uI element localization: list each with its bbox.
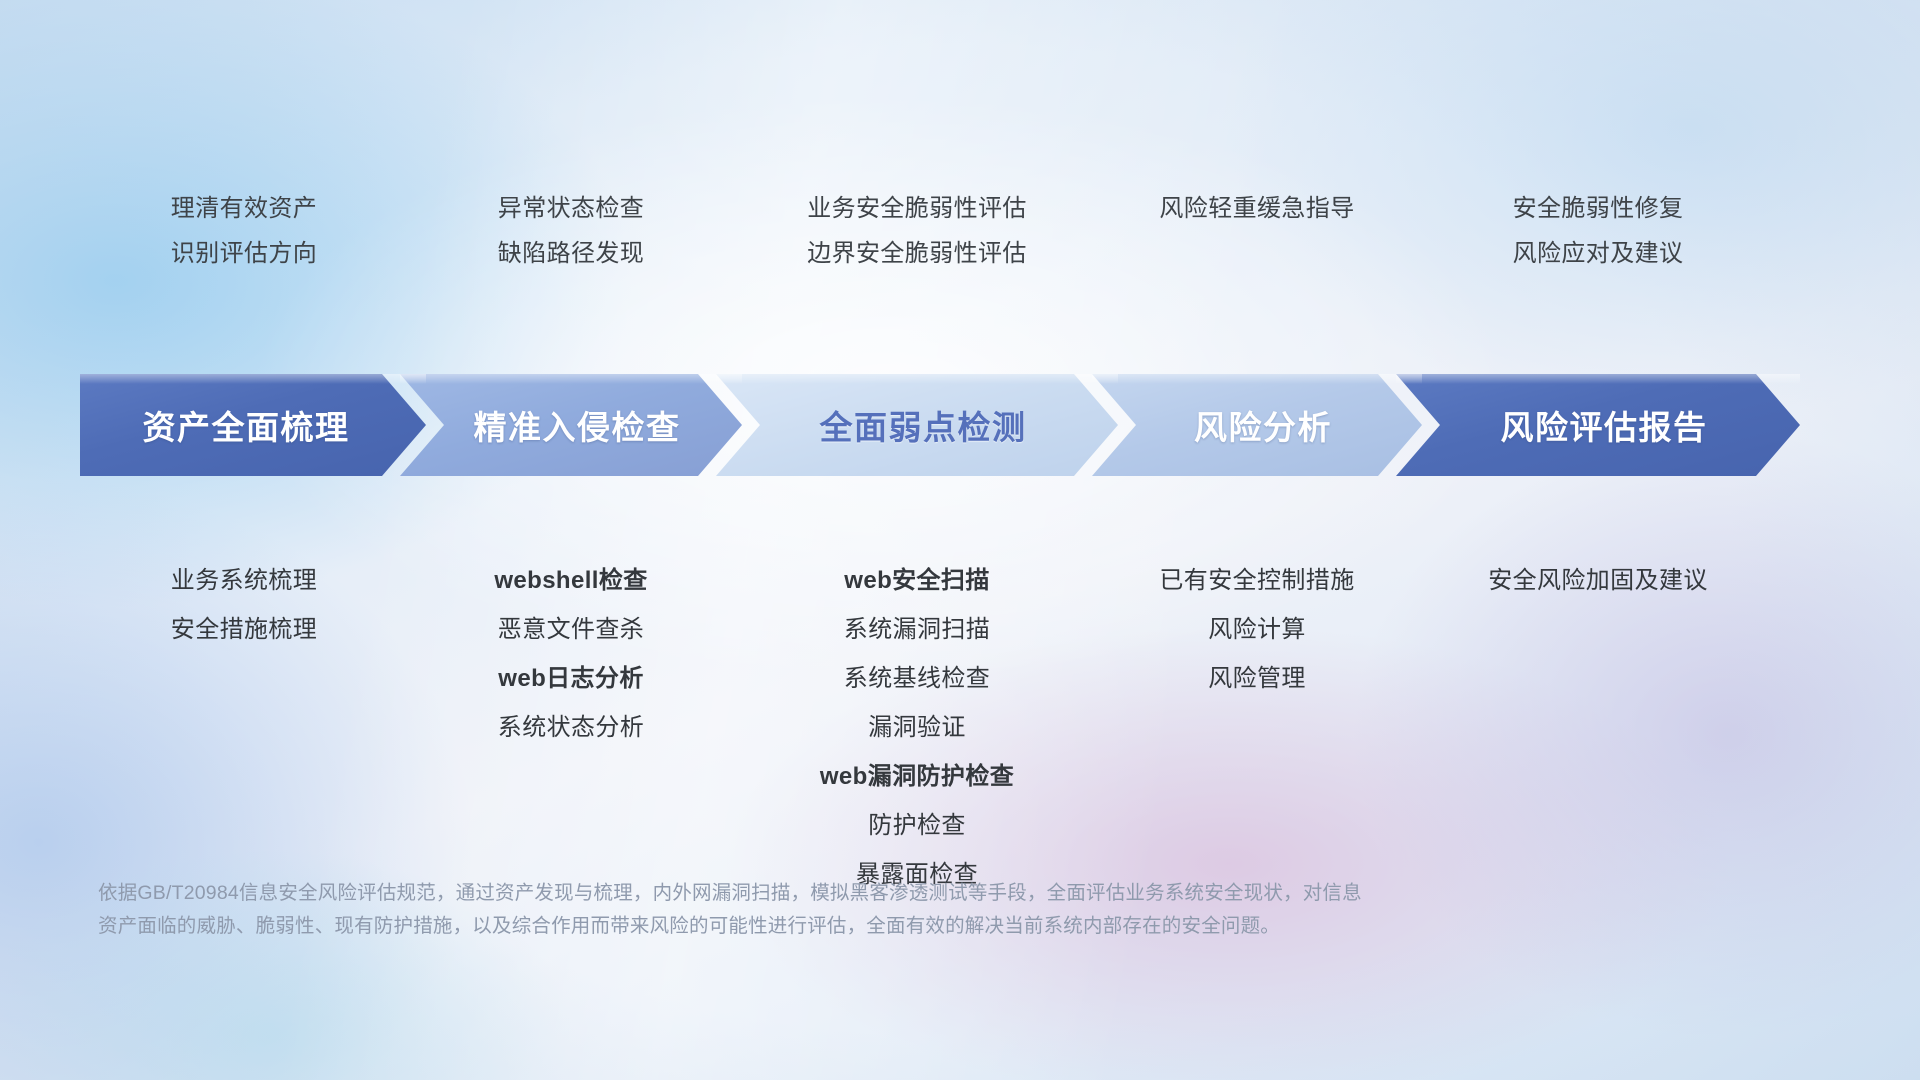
stage-chevron-label: 精准入侵检查 xyxy=(470,401,681,449)
top-annotation: 识别评估方向 xyxy=(171,231,317,276)
detail-item: web日志分析 xyxy=(498,654,643,703)
top-annotation: 异常状态检查 xyxy=(498,186,644,231)
top-annotations-col-5: 安全脆弱性修复 风险应对及建议 xyxy=(1398,186,1798,276)
stage-chevron-band: 资产全面梳理 精准入侵检查 全面弱点检测 风险分析 风险评估报告 xyxy=(80,374,1850,476)
detail-item: 业务系统梳理 xyxy=(171,556,317,605)
detail-item: 安全风险加固及建议 xyxy=(1488,556,1708,605)
top-annotation: 风险轻重缓急指导 xyxy=(1159,186,1354,231)
stage-chevron-label: 全面弱点检测 xyxy=(816,401,1027,449)
stage-chevron-asset-inventory[interactable]: 资产全面梳理 xyxy=(80,374,426,476)
top-annotation: 业务安全脆弱性评估 xyxy=(807,186,1027,231)
top-annotation: 理清有效资产 xyxy=(171,186,317,231)
top-annotations-col-4: 风险轻重缓急指导 xyxy=(1057,186,1457,231)
footer-note-line: 资产面临的威胁、脆弱性、现有防护措施，以及综合作用而带来风险的可能性进行评估，全… xyxy=(98,910,1628,943)
top-annotation: 边界安全脆弱性评估 xyxy=(807,231,1027,276)
stage-chevron-intrusion-check[interactable]: 精准入侵检查 xyxy=(400,374,742,476)
bottom-details-col-2: webshell检查恶意文件查杀web日志分析系统状态分析 xyxy=(371,556,771,752)
detail-item: 风险管理 xyxy=(1208,654,1306,703)
stage-chevron-assessment-report[interactable]: 风险评估报告 xyxy=(1396,374,1800,476)
top-annotation: 安全脆弱性修复 xyxy=(1513,186,1684,231)
detail-item: 防护检查 xyxy=(868,801,966,850)
top-annotations-col-2: 异常状态检查 缺陷路径发现 xyxy=(371,186,771,276)
footer-note-line: 依据GB/T20984信息安全风险评估规范，通过资产发现与梳理，内外网漏洞扫描，… xyxy=(98,877,1628,910)
stage-chevron-label: 资产全面梳理 xyxy=(139,401,350,449)
detail-item: 漏洞验证 xyxy=(868,703,966,752)
detail-item: web安全扫描 xyxy=(844,556,989,605)
bottom-details-col-4: 已有安全控制措施风险计算风险管理 xyxy=(1057,556,1457,703)
detail-item: web漏洞防护检查 xyxy=(820,752,1014,801)
detail-item: 恶意文件查杀 xyxy=(498,605,644,654)
top-annotation: 风险应对及建议 xyxy=(1513,231,1684,276)
top-annotation: 缺陷路径发现 xyxy=(498,231,644,276)
footer-note: 依据GB/T20984信息安全风险评估规范，通过资产发现与梳理，内外网漏洞扫描，… xyxy=(98,877,1628,943)
stage-chevron-label: 风险评估报告 xyxy=(1497,401,1708,449)
detail-item: 已有安全控制措施 xyxy=(1159,556,1354,605)
detail-item: 风险计算 xyxy=(1208,605,1306,654)
detail-item: 系统漏洞扫描 xyxy=(844,605,990,654)
bottom-details-col-5: 安全风险加固及建议 xyxy=(1398,556,1798,605)
detail-item: 系统状态分析 xyxy=(498,703,644,752)
process-diagram: 理清有效资产 识别评估方向 异常状态检查 缺陷路径发现 业务安全脆弱性评估 边界… xyxy=(0,0,1920,1080)
stage-chevron-label: 风险分析 xyxy=(1190,401,1332,449)
stage-chevron-risk-analysis[interactable]: 风险分析 xyxy=(1092,374,1422,476)
detail-item: webshell检查 xyxy=(494,556,647,605)
detail-item: 系统基线检查 xyxy=(844,654,990,703)
top-annotations-row: 理清有效资产 识别评估方向 异常状态检查 缺陷路径发现 业务安全脆弱性评估 边界… xyxy=(0,186,1920,286)
stage-chevron-weakness-detection[interactable]: 全面弱点检测 xyxy=(716,374,1118,476)
detail-item: 安全措施梳理 xyxy=(171,605,317,654)
